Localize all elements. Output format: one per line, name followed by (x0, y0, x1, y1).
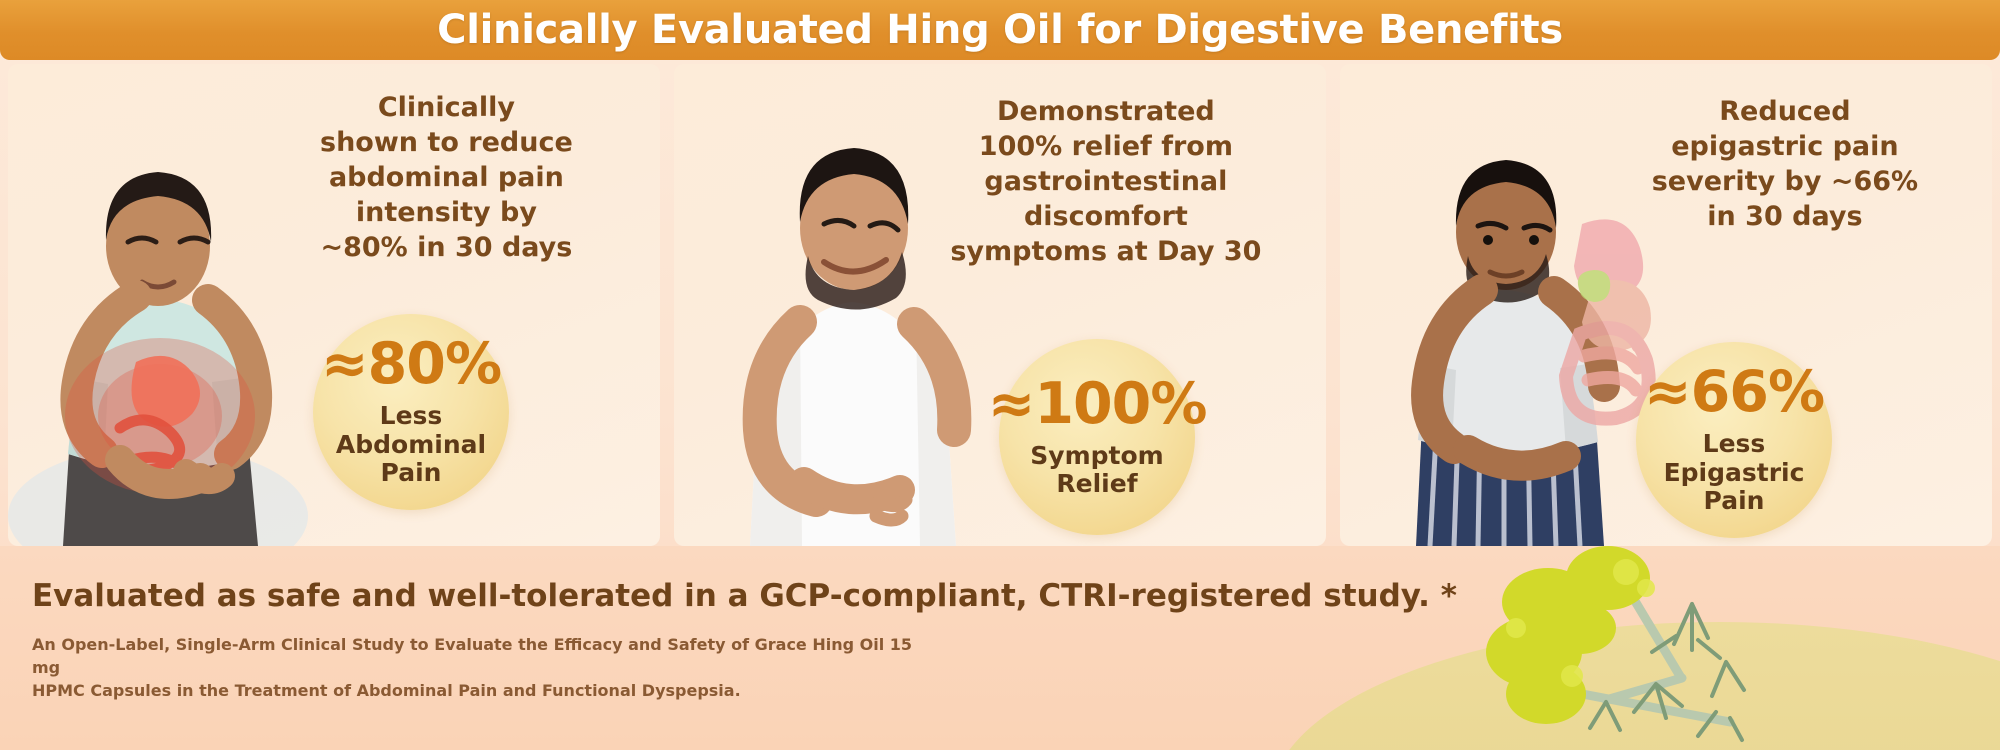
badge-symptom-relief: ≈100% Symptom Relief (999, 339, 1195, 535)
infographic-root: Clinically Evaluated Hing Oil for Digest… (0, 0, 2000, 750)
footer-headline: Evaluated as safe and well-tolerated in … (32, 578, 1457, 614)
benefit-panels: Clinically shown to reduce abdominal pai… (8, 64, 1992, 546)
footer-fine-print: An Open-Label, Single-Arm Clinical Study… (32, 633, 932, 703)
header-bar: Clinically Evaluated Hing Oil for Digest… (0, 0, 2000, 60)
panel-symptom-relief-description: Demonstrated 100% relief from gastrointe… (904, 94, 1308, 269)
badge-symptom-relief-label: Symptom Relief (1030, 442, 1163, 499)
asafoetida-ferula-plant-illustration (1430, 546, 1850, 750)
panel-epigastric-pain: Reduced epigastric pain severity by ~66%… (1340, 64, 1992, 546)
badge-abdominal-pain-percent: ≈80% (321, 336, 501, 393)
panel-abdominal-pain: Clinically shown to reduce abdominal pai… (8, 64, 660, 546)
panel-epigastric-pain-description: Reduced epigastric pain severity by ~66%… (1596, 94, 1974, 234)
badge-epigastric-pain-label: Less Epigastric Pain (1664, 430, 1805, 516)
panel-symptom-relief: Demonstrated 100% relief from gastrointe… (674, 64, 1326, 546)
page-title: Clinically Evaluated Hing Oil for Digest… (437, 7, 1563, 53)
badge-abdominal-pain: ≈80% Less Abdominal Pain (313, 314, 509, 510)
badge-abdominal-pain-label: Less Abdominal Pain (336, 402, 486, 488)
badge-epigastric-pain: ≈66% Less Epigastric Pain (1636, 342, 1832, 538)
plant-icon (1430, 546, 1850, 750)
footer-band: Evaluated as safe and well-tolerated in … (0, 546, 2000, 750)
panel-abdominal-pain-description: Clinically shown to reduce abdominal pai… (251, 90, 642, 265)
badge-epigastric-pain-percent: ≈66% (1644, 364, 1824, 421)
badge-symptom-relief-percent: ≈100% (988, 376, 1207, 433)
